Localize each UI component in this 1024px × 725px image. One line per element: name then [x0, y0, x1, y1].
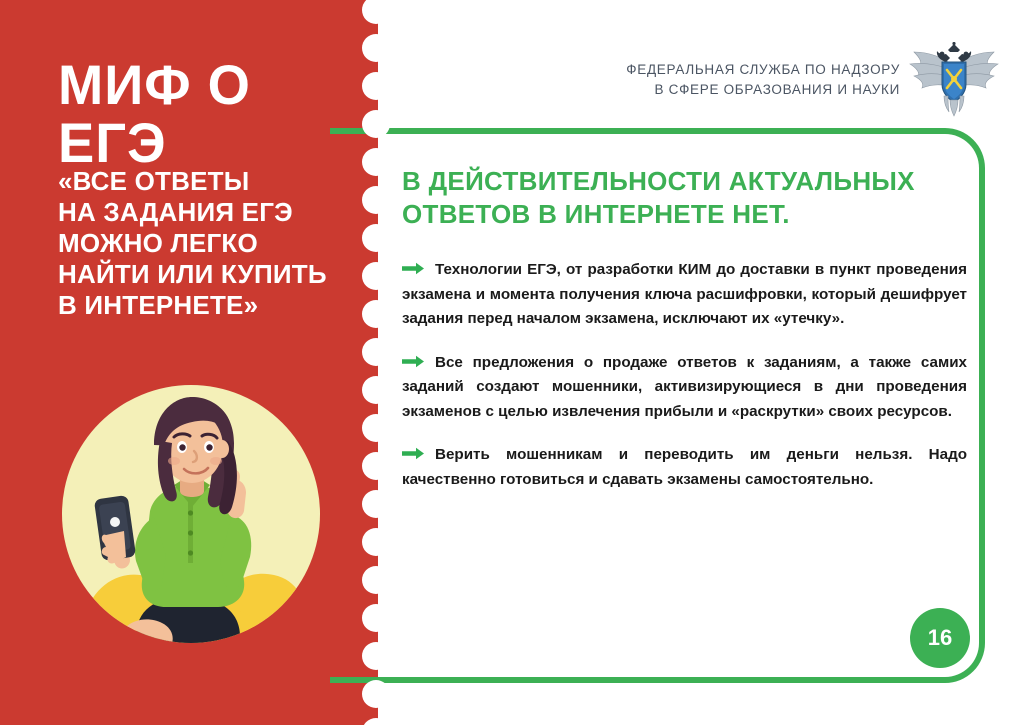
fact-heading-line: В ДЕЙСТВИТЕЛЬНОСТИ АКТУАЛЬНЫХ	[402, 165, 942, 198]
green-arrow-bullet-icon	[402, 259, 428, 272]
list-item-text: Все предложения о продаже ответов к зада…	[402, 354, 967, 420]
fact-heading-line: ОТВЕТОВ В ИНТЕРНЕТЕ НЕТ.	[402, 198, 942, 231]
myth-quote-line: В ИНТЕРНЕТЕ»	[58, 290, 348, 321]
fact-bullet-list: Технологии ЕГЭ, от разработки КИМ до дос…	[402, 258, 967, 511]
myth-quote-line: НА ЗАДАНИЯ ЕГЭ	[58, 197, 348, 228]
organization-header: ФЕДЕРАЛЬНАЯ СЛУЖБА ПО НАДЗОРУ В СФЕРЕ ОБ…	[626, 60, 900, 100]
rosobrnadzor-eagle-emblem-icon	[906, 42, 1002, 118]
page-title: МИФ О ЕГЭ	[58, 56, 349, 172]
myth-quote-line: «ВСЕ ОТВЕТЫ	[58, 166, 348, 197]
myth-quote-line: МОЖНО ЛЕГКО	[58, 228, 348, 259]
girl-with-smartphone-illustration	[62, 385, 320, 643]
list-item: Технологии ЕГЭ, от разработки КИМ до дос…	[402, 258, 967, 332]
page-number-badge: 16	[910, 608, 970, 668]
slide-root: МИФ О ЕГЭ «ВСЕ ОТВЕТЫ НА ЗАДАНИЯ ЕГЭ МОЖ…	[0, 0, 1024, 725]
organization-name-line: В СФЕРЕ ОБРАЗОВАНИЯ И НАУКИ	[626, 80, 900, 100]
list-item-text: Верить мошенникам и переводить им деньги…	[402, 446, 967, 488]
organization-name-line: ФЕДЕРАЛЬНАЯ СЛУЖБА ПО НАДЗОРУ	[626, 60, 900, 80]
myth-quote-line: НАЙТИ ИЛИ КУПИТЬ	[58, 259, 348, 290]
list-item: Верить мошенникам и переводить им деньги…	[402, 443, 967, 492]
list-item: Все предложения о продаже ответов к зада…	[402, 351, 967, 425]
fact-heading: В ДЕЙСТВИТЕЛЬНОСТИ АКТУАЛЬНЫХ ОТВЕТОВ В …	[402, 165, 942, 231]
myth-quote: «ВСЕ ОТВЕТЫ НА ЗАДАНИЯ ЕГЭ МОЖНО ЛЕГКО Н…	[58, 166, 348, 321]
green-arrow-bullet-icon	[402, 352, 428, 365]
list-item-text: Технологии ЕГЭ, от разработки КИМ до дос…	[402, 261, 967, 327]
green-arrow-bullet-icon	[402, 444, 428, 457]
